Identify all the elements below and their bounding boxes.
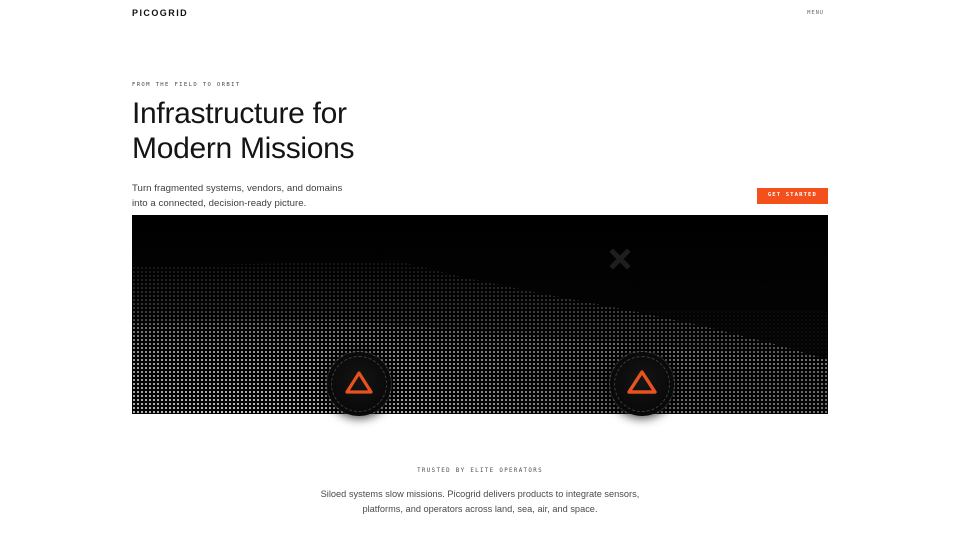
delta-badge-right[interactable] [610,352,674,416]
trusted-label: TRUSTED BY ELITE OPERATORS [417,468,543,474]
brand-logo[interactable]: PICOGRID [132,8,188,18]
menu-button[interactable]: MENU [807,10,824,16]
headline-line-1: Infrastructure for [132,96,692,131]
terrain-highlight-halftone [132,310,828,414]
page-title: Infrastructure for Modern Missions [132,96,692,166]
hero-eyebrow: FROM THE FIELD TO ORBIT [132,82,692,88]
hero-subhead: Turn fragmented systems, vendors, and do… [132,181,692,211]
subhead-line-1: Turn fragmented systems, vendors, and do… [132,181,692,196]
trusted-body-line-1: Siloed systems slow missions. Picogrid d… [321,487,640,502]
headline-line-2: Modern Missions [132,131,692,166]
x-marker-icon [607,246,633,272]
get-started-button[interactable]: GET STARTED [757,188,828,204]
subhead-line-2: into a connected, decision-ready picture… [132,196,692,211]
landing-page: PICOGRID MENU FROM THE FIELD TO ORBIT In… [0,0,960,540]
delta-badge-left[interactable] [327,352,391,416]
trusted-body-line-2: platforms, and operators across land, se… [321,502,640,517]
hero-copy: FROM THE FIELD TO ORBIT Infrastructure f… [132,82,692,211]
trusted-body: Siloed systems slow missions. Picogrid d… [321,487,640,517]
triangle-delta-icon [344,369,374,400]
trusted-section: TRUSTED BY ELITE OPERATORS Siloed system… [0,468,960,517]
triangle-delta-icon [626,368,658,401]
site-header: PICOGRID MENU [0,0,960,26]
hero-image [132,215,828,414]
